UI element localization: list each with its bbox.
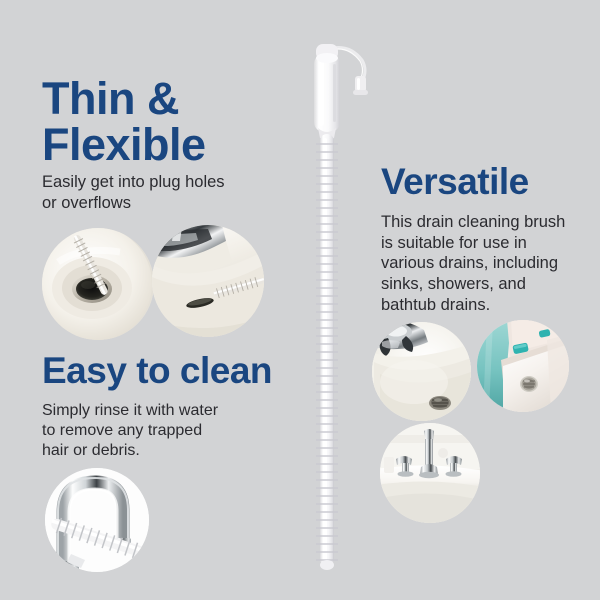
photo-rinsing-brush-under-tap xyxy=(45,468,149,572)
photo-shower-tray-drain xyxy=(477,320,569,412)
photo-basin-three-piece-tap xyxy=(380,423,480,523)
photo-bathroom-sink-drain xyxy=(372,322,471,421)
product-drain-cleaning-brush xyxy=(296,34,382,574)
photo-sink-plug-hole-with-brush xyxy=(42,228,154,340)
versatile-heading: Versatile xyxy=(381,163,529,201)
easy-to-clean-body: Simply rinse it with water to remove any… xyxy=(42,401,218,461)
infographic-canvas: Thin & Flexible Easily get into plug hol… xyxy=(0,0,600,600)
thin-flexible-body: Easily get into plug holes or overflows xyxy=(42,172,225,213)
easy-to-clean-heading: Easy to clean xyxy=(42,352,272,390)
thin-flexible-heading: Thin & Flexible xyxy=(42,76,206,169)
photo-sink-overflow-with-brush xyxy=(152,225,264,337)
versatile-body: This drain cleaning brush is suitable fo… xyxy=(381,212,565,315)
